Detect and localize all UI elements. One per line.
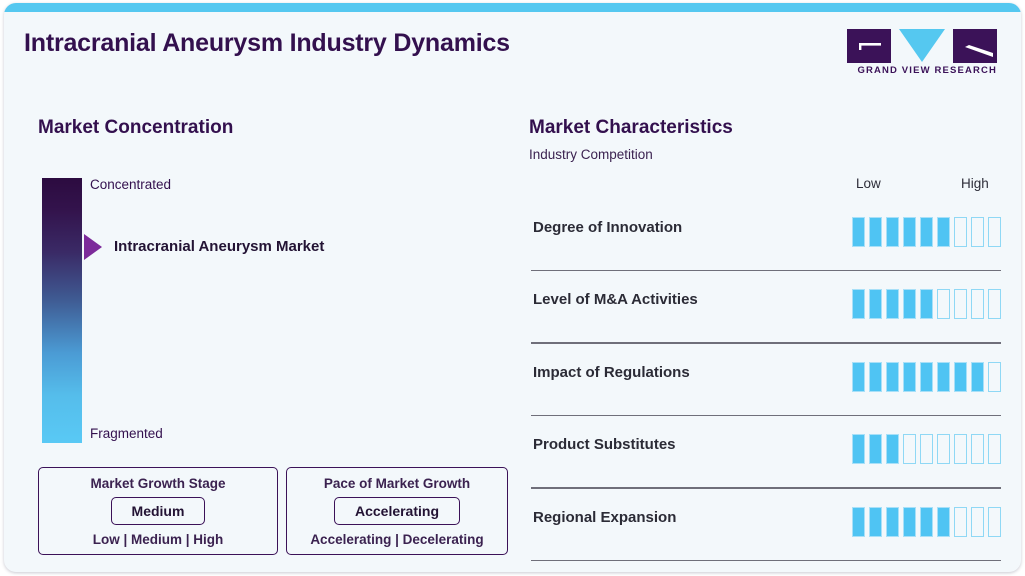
characteristic-rating-meter [852, 507, 1001, 537]
rating-segment-empty [937, 434, 950, 464]
rating-segment-empty [954, 289, 967, 319]
market-concentration-title: Market Concentration [38, 117, 233, 139]
rating-segment-filled [920, 289, 933, 319]
rating-segment-empty [971, 434, 984, 464]
page-title: Intracranial Aneurysm Industry Dynamics [24, 29, 510, 58]
rating-segment-filled [869, 289, 882, 319]
rating-segment-filled [937, 217, 950, 247]
characteristic-label: Degree of Innovation [533, 219, 682, 236]
scale-high-label: High [961, 176, 997, 191]
characteristic-label: Level of M&A Activities [533, 291, 698, 308]
rating-segment-filled [937, 507, 950, 537]
market-position-marker-icon [84, 234, 102, 260]
characteristic-row: Impact of Regulations [531, 344, 1001, 416]
infographic-canvas: Intracranial Aneurysm Industry Dynamics … [0, 0, 1025, 576]
characteristic-row: Degree of Innovation [531, 199, 1001, 271]
market-position-label: Intracranial Aneurysm Market [114, 238, 324, 255]
market-growth-stage-scale: Low | Medium | High [93, 532, 224, 547]
infographic-card: Intracranial Aneurysm Industry Dynamics … [4, 3, 1021, 572]
characteristic-row: Product Substitutes [531, 416, 1001, 488]
logo-mark-icon [847, 29, 997, 63]
rating-segment-filled [903, 289, 916, 319]
market-characteristics-subtitle: Industry Competition [529, 147, 653, 162]
characteristic-row: Level of M&A Activities [531, 271, 1001, 343]
rating-segment-filled [852, 362, 865, 392]
rating-segment-empty [988, 507, 1001, 537]
rating-segment-empty [971, 289, 984, 319]
rating-segment-filled [937, 362, 950, 392]
market-growth-stage-value: Medium [111, 497, 206, 525]
rating-segment-filled [852, 434, 865, 464]
pace-of-market-growth-scale: Accelerating | Decelerating [310, 532, 483, 547]
characteristic-label: Regional Expansion [533, 509, 676, 526]
rating-segment-empty [920, 434, 933, 464]
rating-segment-empty [971, 507, 984, 537]
characteristic-rating-meter [852, 289, 1001, 319]
rating-segment-filled [886, 362, 899, 392]
rating-segment-empty [988, 289, 1001, 319]
rating-segment-filled [869, 217, 882, 247]
rating-segment-empty [988, 434, 1001, 464]
rating-segment-filled [852, 507, 865, 537]
rating-segment-empty [903, 434, 916, 464]
rating-segment-empty [954, 217, 967, 247]
rating-segment-filled [920, 507, 933, 537]
market-growth-stage-box: Market Growth Stage Medium Low | Medium … [38, 467, 278, 555]
characteristic-row: Regional Expansion [531, 489, 1001, 561]
grand-view-research-logo: GRAND VIEW RESEARCH [847, 29, 997, 79]
logo-wordmark: GRAND VIEW RESEARCH [847, 65, 997, 76]
rating-segment-filled [886, 507, 899, 537]
market-characteristics-title: Market Characteristics [529, 117, 733, 139]
market-characteristics-rows: Degree of InnovationLevel of M&A Activit… [531, 199, 1001, 561]
rating-segment-filled [903, 362, 916, 392]
rating-segment-empty [988, 362, 1001, 392]
rating-segment-filled [920, 217, 933, 247]
rating-segment-filled [869, 362, 882, 392]
card-top-accent-bar [4, 3, 1021, 12]
rating-segment-filled [869, 507, 882, 537]
gradient-top-label: Concentrated [90, 177, 171, 192]
characteristic-rating-meter [852, 217, 1001, 247]
characteristic-label: Impact of Regulations [533, 364, 690, 381]
characteristic-rating-meter [852, 434, 1001, 464]
rating-segment-filled [886, 434, 899, 464]
rating-segment-filled [903, 217, 916, 247]
concentration-gradient-bar [42, 178, 82, 443]
pace-of-market-growth-value: Accelerating [334, 497, 460, 525]
rating-segment-filled [869, 434, 882, 464]
characteristic-rating-meter [852, 362, 1001, 392]
rating-segment-empty [954, 507, 967, 537]
rating-segment-filled [971, 362, 984, 392]
rating-segment-filled [886, 289, 899, 319]
rating-segment-empty [971, 217, 984, 247]
rating-segment-filled [852, 217, 865, 247]
pace-of-market-growth-box: Pace of Market Growth Accelerating Accel… [286, 467, 508, 555]
rating-segment-filled [954, 362, 967, 392]
row-separator [531, 560, 1001, 561]
market-growth-stage-title: Market Growth Stage [90, 476, 225, 491]
rating-segment-empty [988, 217, 1001, 247]
rating-segment-filled [886, 217, 899, 247]
gradient-bottom-label: Fragmented [90, 426, 163, 441]
rating-segment-empty [954, 434, 967, 464]
pace-of-market-growth-title: Pace of Market Growth [324, 476, 470, 491]
rating-segment-filled [920, 362, 933, 392]
rating-segment-filled [903, 507, 916, 537]
scale-low-label: Low [856, 176, 881, 191]
rating-segment-empty [937, 289, 950, 319]
rating-segment-filled [852, 289, 865, 319]
characteristic-label: Product Substitutes [533, 436, 676, 453]
